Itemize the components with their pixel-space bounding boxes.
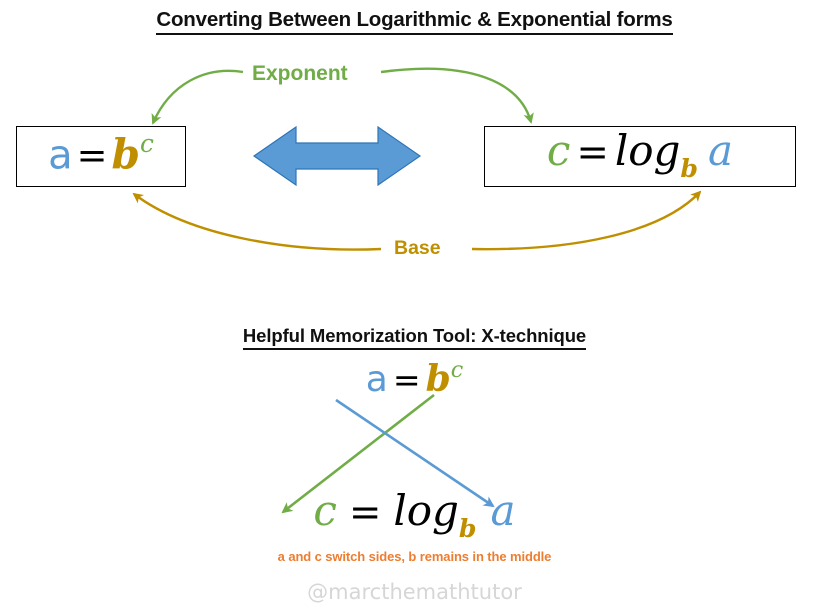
exponential-equals-sign: = — [73, 134, 112, 177]
diagram-canvas: Converting Between Logarithmic & Exponen… — [0, 0, 829, 612]
x-technique-top-equation: a=bc — [0, 358, 829, 400]
page-title: Converting Between Logarithmic & Exponen… — [0, 8, 829, 32]
logarithmic-form-box: c=logba — [484, 126, 796, 187]
xtech-top-variable-a: a — [366, 359, 388, 400]
xtech-bottom-equals-sign: = — [337, 490, 393, 535]
xtech-bottom-argument-a: a — [477, 486, 516, 535]
xtech-top-base-b: b — [426, 358, 451, 400]
exponent-arrow-right — [381, 69, 531, 122]
x-technique-bottom-equation-math: c=logba — [313, 490, 515, 539]
xtech-top-exponent-c: c — [451, 357, 464, 383]
xtech-bottom-log-operator: log — [393, 486, 459, 535]
xtech-bottom-base-b: b — [459, 513, 477, 543]
xtech-bottom-variable-c: c — [313, 486, 337, 535]
exponent-arrow-left — [153, 71, 243, 123]
base-callout-label: Base — [394, 237, 441, 260]
xtech-top-equals-sign: = — [388, 360, 426, 399]
logarithmic-argument-a: a — [698, 126, 733, 175]
logarithmic-equals-sign: = — [570, 130, 614, 175]
base-arrow-right — [472, 192, 700, 249]
logarithmic-log-operator: log — [615, 126, 681, 175]
section-subtitle-text: Helpful Memorization Tool: X-technique — [243, 325, 586, 350]
exponent-callout-label: Exponent — [252, 62, 348, 86]
base-arrow-left — [134, 194, 381, 250]
exponential-equation: a=bc — [48, 134, 154, 175]
exponential-form-box: a=bc — [16, 126, 186, 187]
x-technique-bottom-equation: c=logba — [0, 487, 829, 539]
page-title-text: Converting Between Logarithmic & Exponen… — [156, 8, 672, 35]
exponential-base-b: b — [111, 130, 140, 178]
logarithmic-base-b: b — [680, 153, 698, 183]
exponential-variable-a: a — [48, 132, 73, 178]
equivalent-arrow-label: equivalent — [254, 143, 420, 165]
logarithmic-equation: c=logba — [547, 130, 733, 179]
exponential-exponent-c: c — [140, 129, 154, 158]
watermark-handle: @marcthemathtutor — [0, 580, 829, 604]
logarithmic-variable-c: c — [547, 126, 571, 175]
x-technique-caption: a and c switch sides, b remains in the m… — [0, 549, 829, 564]
section-subtitle: Helpful Memorization Tool: X-technique — [0, 325, 829, 347]
x-technique-top-equation-math: a=bc — [366, 360, 463, 398]
